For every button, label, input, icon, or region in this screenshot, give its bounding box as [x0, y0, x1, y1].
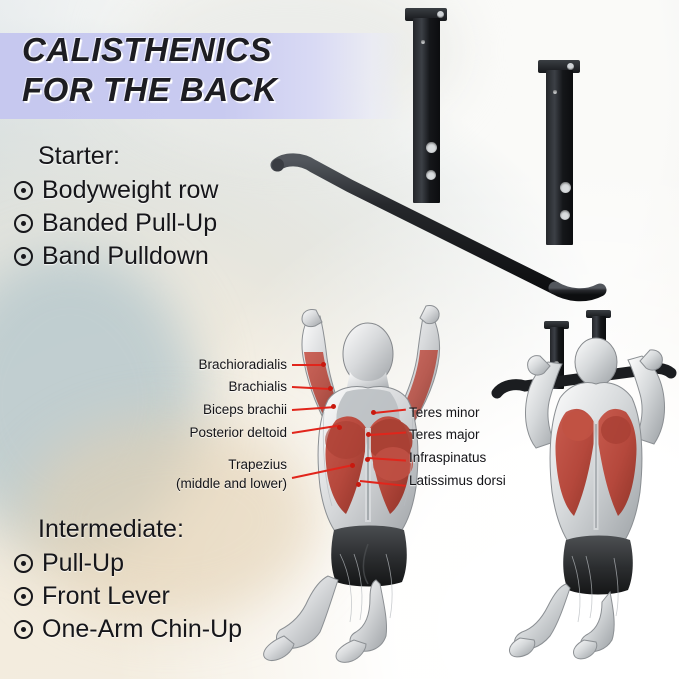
post-hole-left-1 — [421, 40, 425, 44]
list-item[interactable]: Banded Pull-Up — [14, 209, 218, 238]
starter-heading: Starter: — [38, 142, 218, 171]
circled-dot-bullet-icon — [14, 554, 33, 573]
muscle-label-teres-minor: Teres minor — [409, 405, 480, 420]
bolt-left-plate — [437, 11, 444, 18]
leader-dot-posterior-deltoid — [337, 425, 342, 430]
anatomy-figure-top-position — [510, 340, 679, 660]
list-item[interactable]: Pull-Up — [14, 549, 242, 578]
leader-dot-teres-minor — [371, 410, 376, 415]
muscle-label-brachioradialis: Brachioradialis — [198, 357, 287, 372]
leader-dot-biceps-brachii — [331, 404, 336, 409]
leader-dot-latissimus-dorsi — [356, 482, 361, 487]
list-item[interactable]: Band Pulldown — [14, 242, 218, 271]
leader-dot-infraspinatus — [365, 457, 370, 462]
muscle-label-teres-major: Teres major — [409, 427, 480, 442]
starter-item-label: Banded Pull-Up — [42, 209, 217, 238]
muscle-label-latissimus-dorsi: Latissimus dorsi — [409, 473, 506, 488]
circled-dot-bullet-icon — [14, 620, 33, 639]
intermediate-heading: Intermediate: — [38, 515, 242, 544]
leader-dot-trapezius — [350, 463, 355, 468]
starter-item-label: Bodyweight row — [42, 176, 218, 205]
leader-dot-teres-major — [366, 432, 371, 437]
muscle-label-biceps-brachii: Biceps brachii — [203, 402, 287, 417]
intermediate-section: Intermediate: Pull-Up Front Lever One-Ar… — [0, 515, 242, 648]
list-item[interactable]: Bodyweight row — [14, 176, 218, 205]
circled-dot-bullet-icon — [14, 181, 33, 200]
circled-dot-bullet-icon — [14, 247, 33, 266]
muscle-label-infraspinatus: Infraspinatus — [409, 450, 486, 465]
muscle-label-posterior-deltoid: Posterior deltoid — [189, 425, 287, 440]
background-blur-left — [0, 250, 200, 550]
leader-line-brachioradialis — [292, 364, 323, 366]
intermediate-item-label: Front Lever — [42, 582, 170, 611]
leader-dot-brachioradialis — [321, 362, 326, 367]
starter-item-label: Band Pulldown — [42, 242, 209, 271]
muscle-label-trapezius-sub: (middle and lower) — [176, 476, 287, 491]
leader-dot-brachialis — [328, 386, 333, 391]
list-item[interactable]: One-Arm Chin-Up — [14, 615, 242, 644]
post-hole-right-1 — [553, 90, 557, 94]
intermediate-item-label: Pull-Up — [42, 549, 124, 578]
muscle-label-brachialis: Brachialis — [228, 379, 287, 394]
list-item[interactable]: Front Lever — [14, 582, 242, 611]
page-title: CALISTHENICS FOR THE BACK — [22, 30, 352, 110]
intermediate-item-label: One-Arm Chin-Up — [42, 615, 242, 644]
starter-section: Starter: Bodyweight row Banded Pull-Up B… — [0, 142, 218, 275]
circled-dot-bullet-icon — [14, 214, 33, 233]
circled-dot-bullet-icon — [14, 587, 33, 606]
infographic-canvas: CALISTHENICS FOR THE BACK Starter: Bodyw… — [0, 0, 679, 679]
bolt-right-plate — [567, 63, 574, 70]
muscle-label-trapezius: Trapezius — [228, 457, 287, 472]
pull-up-bar-tube — [255, 140, 679, 300]
